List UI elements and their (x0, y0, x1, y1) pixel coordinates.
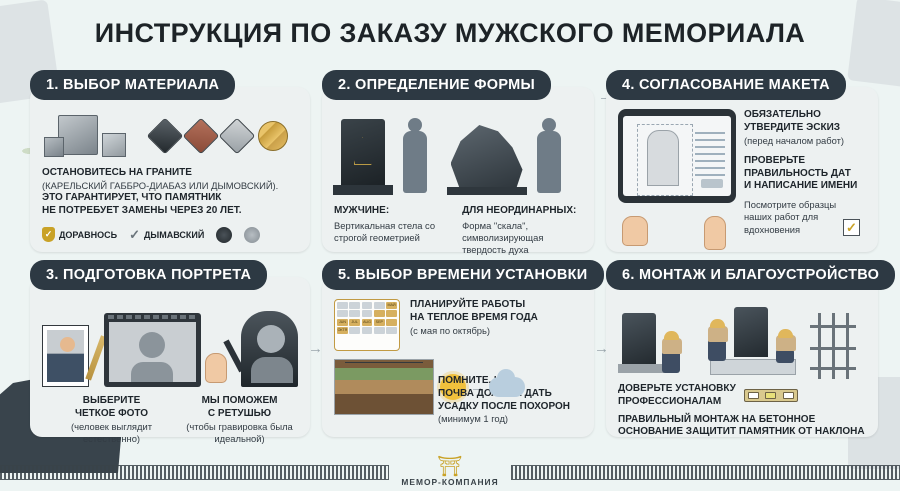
footer: ⛩ МЕМОР-КОМПАНИЯ (0, 453, 900, 491)
panel-3-heading: 3. ПОДГОТОВКА ПОРТРЕТА (30, 260, 267, 290)
dot-light-sample (244, 227, 260, 243)
worker-center-standing (708, 319, 730, 361)
panel-6-heading: 6. МОНТАЖ И БЛАГОУСТРОЙСТВО (606, 260, 895, 290)
p3-left-title2: ЧЕТКОЕ ФОТО (54, 408, 169, 421)
p4-b1-line2: УТВЕРДИТЕ ЭСКИЗ (744, 122, 866, 135)
panel-4-heading: 4. СОГЛАСОВАНИЕ МАКЕТА (606, 70, 846, 100)
p4-b2-line1: ПРОВЕРЬТЕ (744, 155, 866, 168)
p5-t1-line1: ПЛАНИРУЙТЕ РАБОТЫ (410, 299, 578, 312)
hand-pointing (704, 216, 726, 250)
stele-shape (341, 119, 385, 185)
rock-illustration (451, 125, 527, 195)
p4-b1-line1: ОБЯЗАТЕЛЬНО (744, 109, 866, 122)
p4-b1-sub: (перед началом работ) (744, 135, 866, 147)
stele-plinth (333, 185, 393, 195)
tablet-device[interactable] (618, 109, 736, 203)
p3-right-title2: С РЕТУШЬЮ (181, 408, 298, 421)
person-silhouette-left (403, 131, 427, 193)
monument-left (622, 313, 656, 365)
p3-right-sub: (чтобы гравировка была идеальной) (181, 421, 298, 445)
page-title: ИНСТРУКЦИЯ ПО ЗАКАЗУ МУЖСКОГО МЕМОРИАЛА (0, 18, 900, 49)
p5-t1-sub: (с мая по октябрь) (410, 325, 578, 337)
install-scene-left (618, 301, 692, 379)
sketch-text-lines (695, 132, 725, 178)
column-logo-icon: ⛩ (401, 457, 498, 477)
engraved-portrait (241, 311, 298, 387)
panel-5-timing: 5. ВЫБОР ВРЕМЕНИ УСТАНОВКИ МАЙ JUN JUL A… (322, 260, 594, 437)
p6-line1: ДОВЕРЬТЕ УСТАНОВКУ (618, 383, 736, 396)
photo-portrait-color (47, 330, 84, 382)
level-vial-right (783, 392, 794, 399)
panel-5-heading: 5. ВЫБОР ВРЕМЕНИ УСТАНОВКИ (322, 260, 604, 290)
panel-4-approval: 4. СОГЛАСОВАНИЕ МАКЕТА (606, 70, 878, 252)
panel-1-heading: 1. ВЫБОР МАТЕРИАЛА (30, 70, 235, 100)
granite-block-large (58, 115, 98, 155)
soil-cross-section (334, 359, 434, 415)
cloud-icon (489, 377, 525, 397)
p2-right-title: ДЛЯ НЕОРДИНАРНЫХ: (462, 205, 582, 218)
level-vial-left (748, 392, 759, 399)
arrow-panel3-to-panel5: → (308, 340, 323, 357)
cal-month-3: AUG (362, 319, 373, 326)
cal-month-6: ОКТЯ (337, 327, 348, 334)
editor-window (104, 313, 201, 387)
tablet-screen (623, 116, 731, 196)
granite-block-small (44, 137, 64, 157)
greek-key-left (0, 465, 389, 480)
cal-month-1: JUN (337, 319, 348, 326)
calendar-grid: МАЙ JUN JUL AUG SEP ОКТЯ (337, 302, 397, 334)
badge-1-label: ДОРАВНОСЬ (59, 230, 117, 240)
swatch-gold-medal (258, 121, 288, 151)
editor-canvas (109, 322, 196, 382)
p3-left-sub: (человек выглядит естественно) (54, 421, 169, 445)
swatch-grey-granite (219, 118, 256, 155)
p6-line4: ОСНОВАНИЕ ЗАЩИТИТ ПАМЯТНИК ОТ НАКЛОНА (618, 426, 866, 439)
panel-6-installation: 6. МОНТАЖ И БЛАГОУСТРОЙСТВО (606, 260, 878, 437)
p6-line3: ПРАВИЛЬНЫЙ МОНТАЖ НА БЕТОННОЕ (618, 414, 866, 427)
rebar-grid-icon (810, 313, 856, 379)
swatch-black-granite (147, 118, 184, 155)
calendar-icon: МАЙ JUN JUL AUG SEP ОКТЯ (334, 299, 400, 351)
greek-key-right (511, 465, 900, 480)
p5-t1-line2: НА ТЕПЛОЕ ВРЕМЯ ГОДА (410, 312, 578, 325)
worker-center-kneeling (776, 331, 798, 363)
dot-dark-sample (216, 227, 232, 243)
p1-bold-line-1: ОСТАНОВИТЕСЬ НА ГРАНИТЕ (42, 167, 298, 180)
monument-center (734, 307, 768, 357)
panel-3-portrait: 3. ПОДГОТОВКА ПОРТРЕТА (30, 260, 310, 437)
soil-deep (335, 394, 433, 415)
check-swoosh-icon: ✓ (129, 227, 140, 243)
p1-bold-line-3: НЕ ПОТРЕБУЕТ ЗАМЕНЫ ЧЕРЕЗ 20 ЛЕТ. (42, 205, 298, 218)
cal-month-4: SEP (374, 319, 385, 326)
worker-left (662, 331, 684, 373)
person-silhouette-right (537, 131, 561, 193)
badge-doravnost: ДОРАВНОСЬ (42, 227, 117, 242)
cal-month-2: JUL (349, 319, 360, 326)
rock-base (447, 187, 527, 195)
stele-engraving-icon (354, 137, 372, 165)
soil-topsoil (335, 368, 433, 380)
p2-left-title: МУЖЧИНЕ: (334, 205, 448, 218)
cal-month-0: МАЙ (386, 302, 397, 309)
p4-b2-line2: ПРАВИЛЬНОСТЬ ДАТ (744, 168, 866, 181)
settlement-measure-line (345, 362, 423, 363)
p3-right-title1: МЫ ПОМОЖЕМ (181, 395, 298, 408)
p1-paren-line: (КАРЕЛЬСКИЙ ГАББРО-ДИАБАЗ ИЛИ ДЫМОВСКИЙ)… (42, 180, 298, 192)
brand-name: МЕМОР-КОМПАНИЯ (401, 477, 498, 487)
p3-left-title1: ВЫБЕРИТЕ (54, 395, 169, 408)
granite-block-cube (102, 133, 126, 157)
panel-1-material: 1. ВЫБОР МАТЕРИАЛА ОСТАНОВИТЕСЬ НА ГРАНИ… (30, 70, 310, 252)
p2-left-text: Вертикальная стела со строгой геометрией (334, 220, 448, 244)
badge-2-label: ДЫМАВСКИЙ (144, 230, 204, 240)
swatch-red-granite (183, 118, 220, 155)
sketch-approve-button[interactable] (701, 179, 723, 188)
badge-dymavsky: ✓ ДЫМАВСКИЙ (129, 227, 204, 243)
stele-illustration: ↕ (334, 119, 393, 195)
p2-right-text: Форма "скала", символизирующая твердость… (462, 220, 582, 257)
install-scene-center (698, 299, 804, 379)
shield-check-icon (42, 227, 55, 242)
p6-line2: ПРОФЕССИОНАЛАМ (618, 396, 736, 409)
panel-2-heading: 2. ОПРЕДЕЛЕНИЕ ФОРМЫ (322, 70, 551, 100)
soil-mid (335, 380, 433, 394)
photo-frame (42, 325, 89, 387)
p4-b3-text: Посмотрите образцы наших работ для вдохн… (744, 199, 838, 236)
hand-left-on-tablet (205, 353, 227, 383)
rock-shape (451, 125, 523, 187)
sketch-dimension-lines (637, 124, 693, 196)
p4-b2-line3: И НАПИСАНИЕ ИМЕНИ (744, 180, 866, 193)
checkbox-inspiration[interactable]: ✓ (843, 219, 860, 236)
infographic-canvas: ИНСТРУКЦИЯ ПО ЗАКАЗУ МУЖСКОГО МЕМОРИАЛА … (0, 0, 900, 491)
panel-2-form: 2. ОПРЕДЕЛЕНИЕ ФОРМЫ ↕ (322, 70, 594, 252)
level-vial-center (765, 392, 776, 399)
p5-t2-line3: УСАДКУ ПОСЛЕ ПОХОРОН (438, 401, 582, 414)
hand-holding-tablet (622, 216, 648, 246)
p5-t2-sub: (минимум 1 год) (438, 413, 582, 425)
spirit-level-icon (744, 389, 798, 402)
p1-bold-line-2: ЭТО ГАРАНТИРУЕТ, ЧТО ПАМЯТНИК (42, 192, 298, 205)
monument-left-base (618, 364, 668, 373)
